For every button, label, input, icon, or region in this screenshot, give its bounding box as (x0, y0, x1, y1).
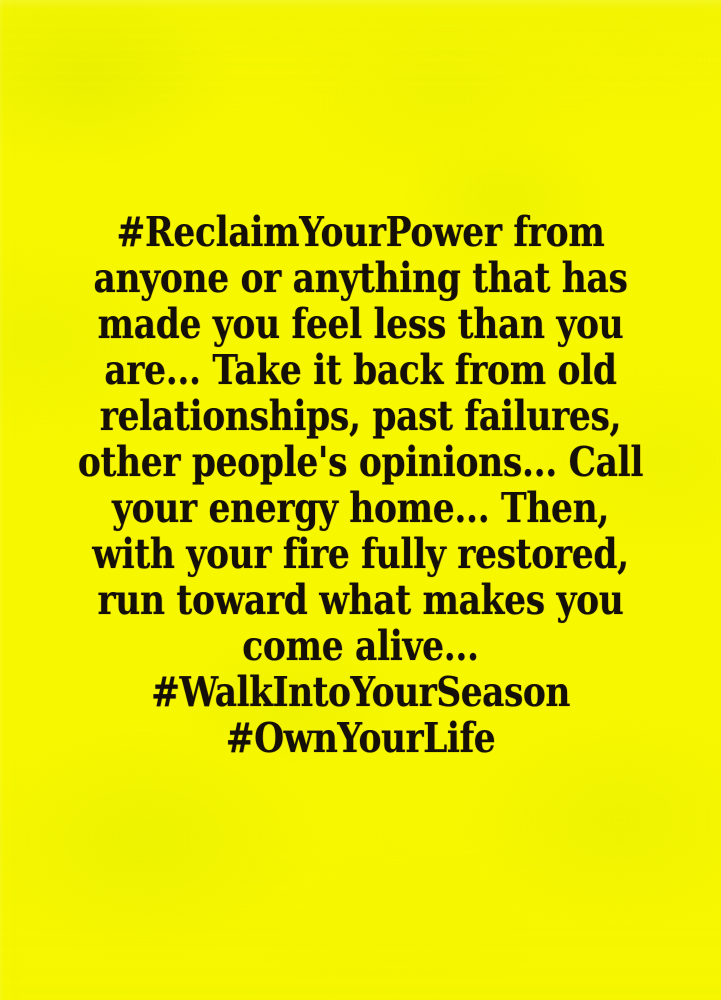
quote-line: come alive... (57, 623, 663, 669)
quote-line: anyone or anything that has (57, 255, 663, 301)
quote-line: other people's opinions... Call (57, 439, 663, 485)
quote-line: made you feel less than you (57, 301, 663, 347)
quote-line: are... Take it back from old (57, 347, 663, 393)
quote-line: your energy home... Then, (57, 485, 663, 531)
hashtag-line-walk-into-your-season: #WalkIntoYourSeason (57, 669, 663, 715)
quote-line: run toward what makes you (57, 577, 663, 623)
hashtag-line-own-your-life: #OwnYourLife (57, 715, 663, 761)
quote-line: relationships, past failures, (57, 393, 663, 439)
quote-poster: #ReclaimYourPower from anyone or anythin… (0, 0, 721, 1000)
quote-line: #ReclaimYourPower from (57, 209, 663, 255)
quote-line: with your fire fully restored, (57, 531, 663, 577)
quote-text-block: #ReclaimYourPower from anyone or anythin… (0, 209, 721, 761)
